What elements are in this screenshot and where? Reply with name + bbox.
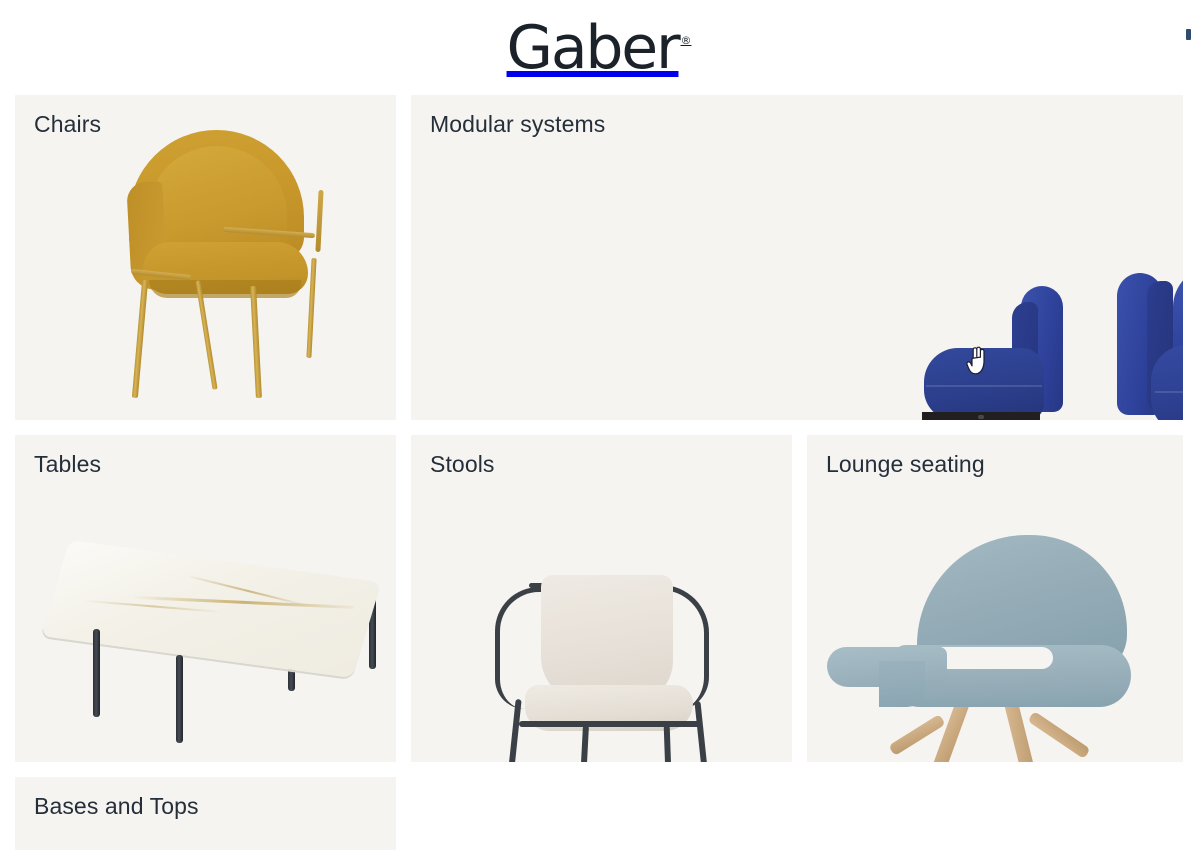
lounge-seating-product-image bbox=[827, 535, 1157, 762]
brand-wordmark: Gaber bbox=[507, 17, 679, 79]
site-header: Gaber ® bbox=[0, 0, 1198, 95]
card-title-modular-systems: Modular systems bbox=[430, 111, 605, 138]
category-grid: Chairs Modular s bbox=[0, 95, 1198, 850]
category-card-stools[interactable]: Stools bbox=[411, 435, 792, 762]
registered-trademark-icon: ® bbox=[680, 35, 691, 46]
modular-unit-center bbox=[1111, 265, 1183, 420]
card-title-lounge-seating: Lounge seating bbox=[826, 451, 985, 478]
chairs-product-image bbox=[101, 130, 331, 405]
card-title-stools: Stools bbox=[430, 451, 495, 478]
grid-row: Bases and Tops bbox=[15, 777, 1183, 850]
grid-row: Chairs Modular s bbox=[15, 95, 1183, 420]
stools-product-image bbox=[489, 575, 739, 762]
card-title-tables: Tables bbox=[34, 451, 101, 478]
modular-systems-product-image bbox=[411, 95, 1183, 420]
edge-marker-icon bbox=[1186, 29, 1191, 40]
category-card-chairs[interactable]: Chairs bbox=[15, 95, 396, 420]
category-card-tables[interactable]: Tables bbox=[15, 435, 396, 762]
brand-logo[interactable]: Gaber ® bbox=[507, 17, 692, 79]
card-title-bases-and-tops: Bases and Tops bbox=[34, 793, 199, 820]
category-card-bases-and-tops[interactable]: Bases and Tops bbox=[15, 777, 396, 850]
modular-unit-left bbox=[916, 280, 1068, 420]
tables-product-image bbox=[49, 555, 379, 745]
category-card-lounge-seating[interactable]: Lounge seating bbox=[807, 435, 1183, 762]
grid-row: Tables Stools bbox=[15, 435, 1183, 762]
card-title-chairs: Chairs bbox=[34, 111, 101, 138]
category-card-modular-systems[interactable]: Modular systems bbox=[411, 95, 1183, 420]
